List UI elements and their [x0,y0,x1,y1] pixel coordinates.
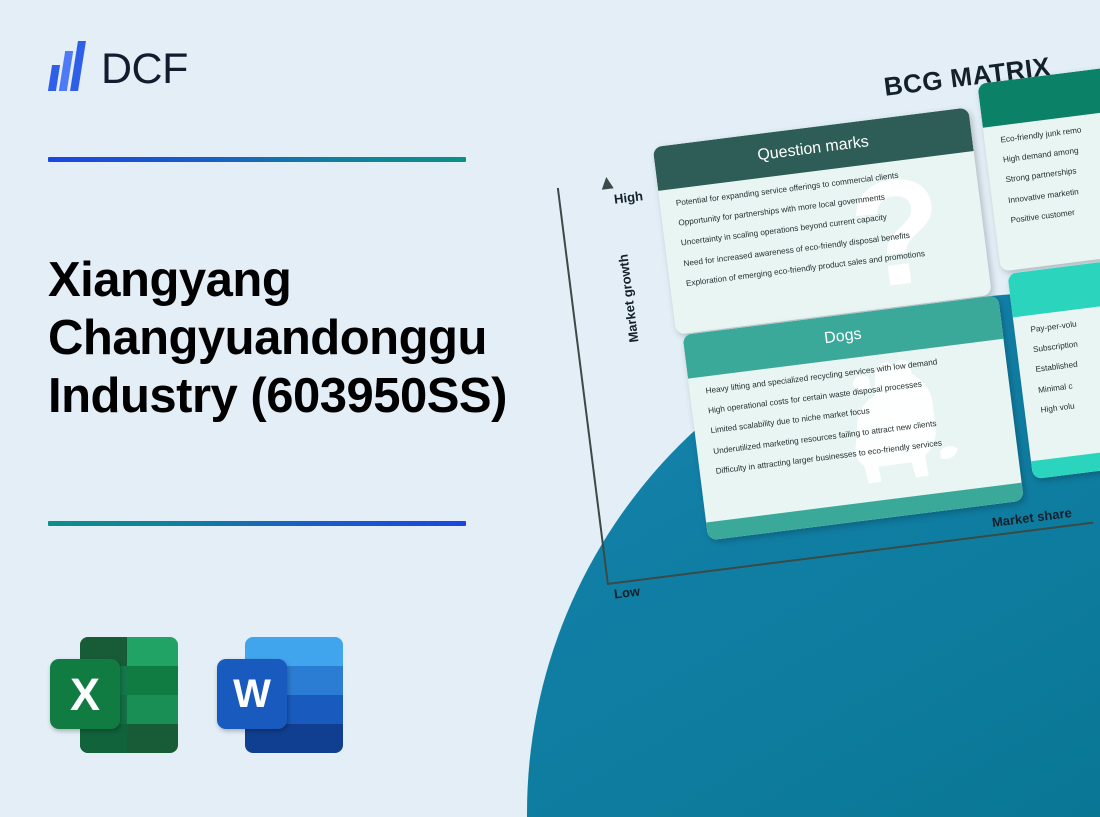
y-axis-label: Market growth [615,253,641,343]
word-icon[interactable]: W [215,635,345,753]
slide-canvas: DCF Xiangyang Changyuandonggu Industry (… [0,0,1100,817]
quadrant-cash-cows[interactable]: Cash cows Pay-per-volu Subscription Esta… [1007,234,1100,479]
y-axis-arrow-icon [600,176,613,189]
excel-icon-letter: X [50,659,120,729]
y-axis-low-label: Low [613,583,641,601]
logo-wordmark: DCF [101,48,188,91]
y-axis-line [557,188,609,585]
divider-bottom [48,521,466,526]
brand-logo[interactable]: DCF [48,40,188,98]
bcg-quadrants: Stars Eco-friendly junk remo High demand… [650,60,1100,552]
word-icon-letter: W [217,659,287,729]
divider-top [48,157,466,162]
quadrant-question-marks[interactable]: Question marks ? Potential for expanding… [653,107,992,334]
excel-icon[interactable]: X [50,635,180,753]
bar-chart-logo-icon [48,43,88,95]
page-title: Xiangyang Changyuandonggu Industry (6039… [48,251,528,426]
file-format-icons: X W [50,635,345,753]
quadrant-dogs[interactable]: Dogs Heavy lifting and specialized recyc… [682,295,1023,540]
y-axis-high-label: High [613,188,644,207]
